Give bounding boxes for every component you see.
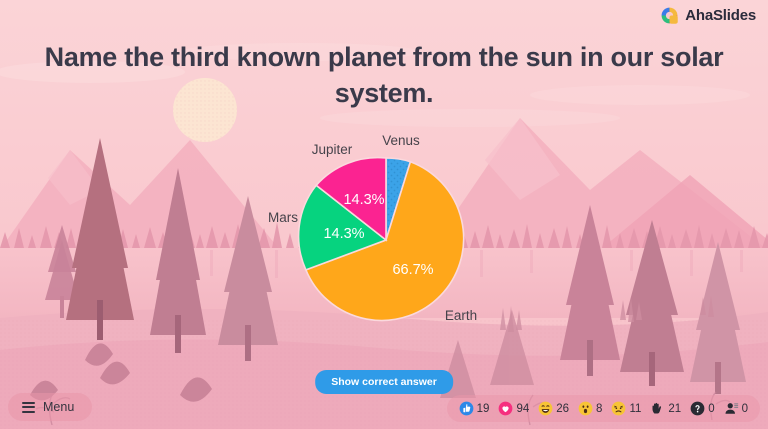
reaction-heart[interactable]: 94: [498, 401, 529, 416]
slide-canvas: AhaSlides Name the third known planet fr…: [0, 0, 768, 429]
reactions-bar: 19 94 26 8: [447, 395, 760, 422]
reaction-count: 11: [629, 403, 641, 415]
question-title: Name the third known planet from the sun…: [0, 40, 768, 112]
brand-logo: AhaSlides: [660, 6, 756, 25]
reaction-count: 94: [516, 403, 529, 415]
heart-icon: [498, 401, 513, 416]
question-mark-icon: [690, 401, 705, 416]
reaction-raised-hand[interactable]: 21: [650, 401, 681, 416]
ahaslides-logo-icon: [660, 6, 679, 25]
menu-label: Menu: [43, 400, 74, 414]
reaction-laughing[interactable]: 26: [538, 401, 569, 416]
brand-name: AhaSlides: [685, 7, 756, 24]
thumbs-up-icon: [459, 401, 474, 416]
reaction-count: 8: [596, 403, 602, 415]
person-icon: [724, 401, 739, 416]
menu-button[interactable]: Menu: [8, 393, 92, 421]
reaction-count: 0: [742, 403, 748, 415]
reaction-count: 0: [708, 403, 714, 415]
reaction-thumbs-up[interactable]: 19: [459, 401, 490, 416]
reaction-surprised[interactable]: 8: [578, 401, 602, 416]
show-correct-answer-button[interactable]: Show correct answer: [315, 370, 453, 394]
reaction-count: 21: [668, 403, 681, 415]
reaction-count: 19: [477, 403, 490, 415]
laughing-face-icon: [538, 401, 553, 416]
hamburger-icon: [22, 402, 35, 413]
angry-face-icon: [611, 401, 626, 416]
reaction-count: 26: [556, 403, 569, 415]
reaction-angry[interactable]: 11: [611, 401, 641, 416]
raised-hand-icon: [650, 401, 665, 416]
surprised-face-icon: [578, 401, 593, 416]
reaction-question[interactable]: 0: [690, 401, 714, 416]
reaction-person[interactable]: 0: [724, 401, 748, 416]
